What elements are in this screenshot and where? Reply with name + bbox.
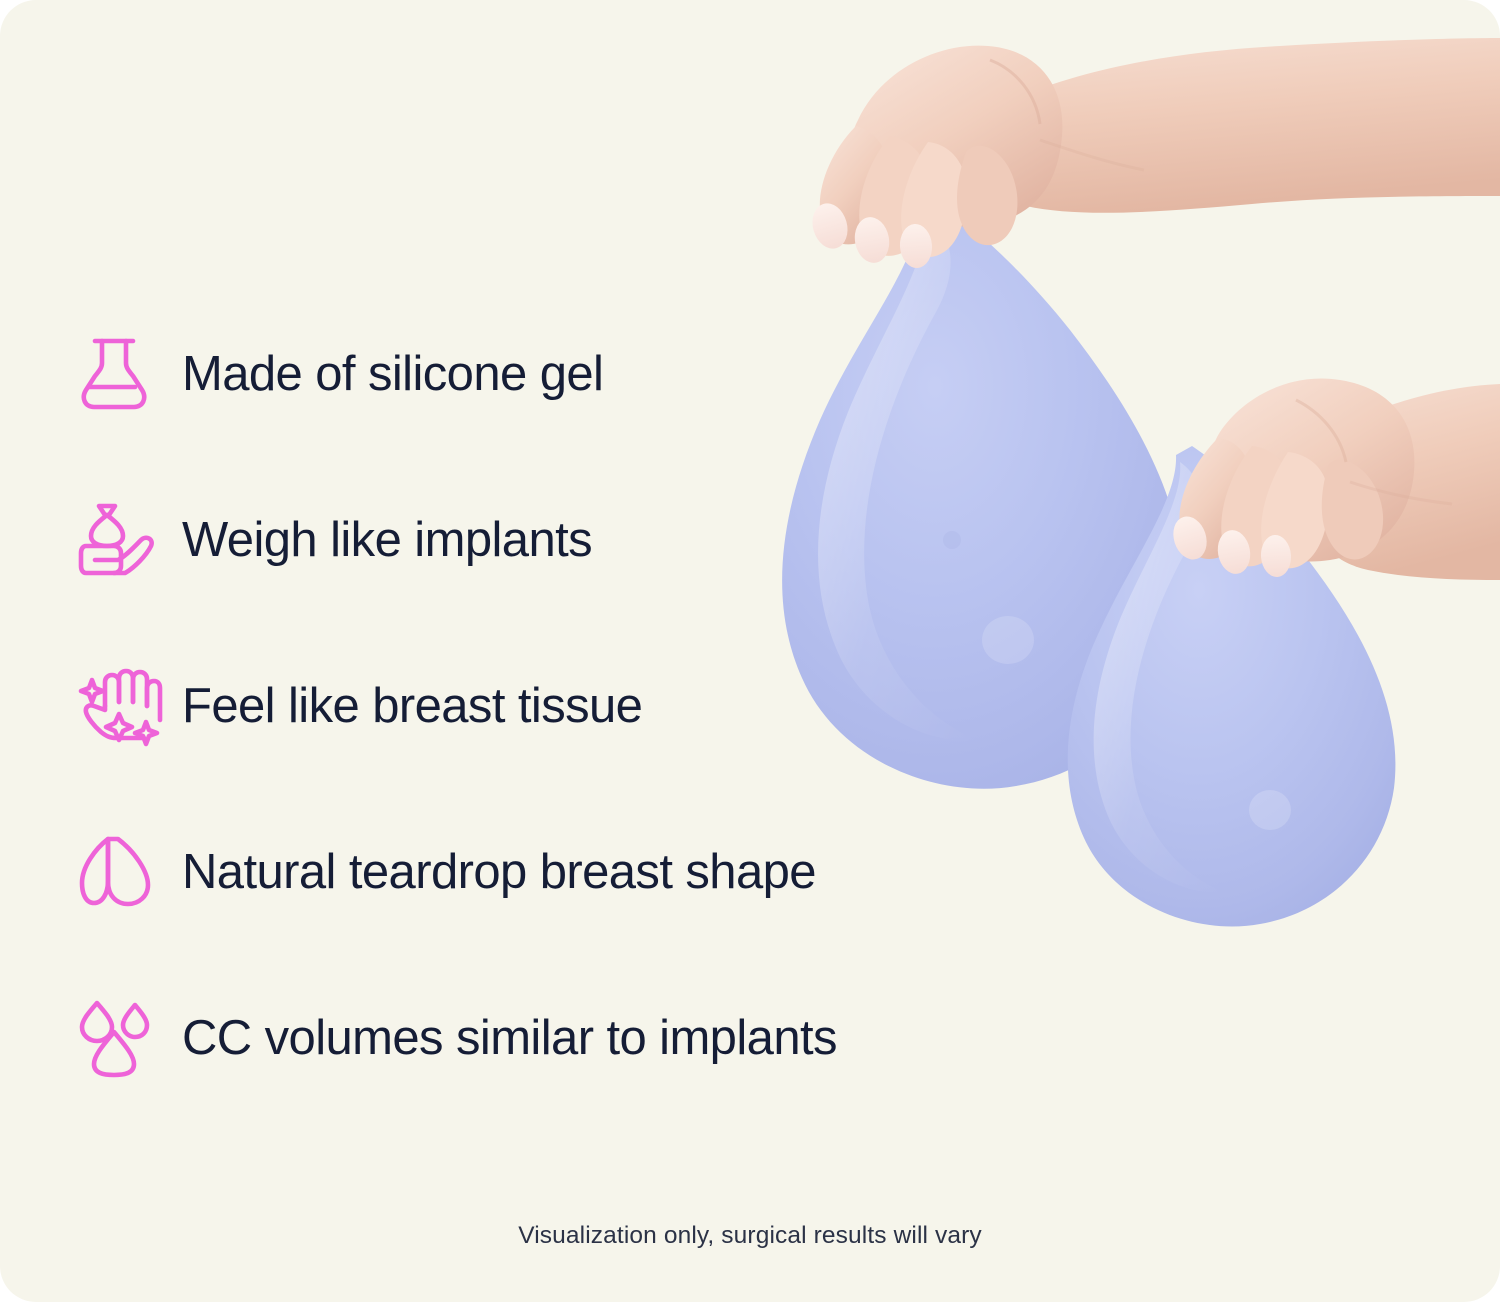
feature-label: Weigh like implants — [182, 514, 592, 567]
feature-label: CC volumes similar to implants — [182, 1012, 837, 1065]
sizer-small — [1068, 446, 1396, 926]
droplets-icon — [78, 988, 182, 1088]
feature-item-weigh-like-implants: Weigh like implants — [78, 484, 978, 596]
feature-label: Feel like breast tissue — [182, 680, 642, 733]
feature-label: Made of silicone gel — [182, 348, 603, 401]
hand-arm-upper — [807, 38, 1500, 269]
feature-item-feel-like-breast-tissue: Feel like breast tissue — [78, 650, 978, 762]
feature-item-cc-volumes-similar-to-implants: CC volumes similar to implants — [78, 982, 978, 1094]
hand-arm-lower — [1168, 378, 1500, 580]
feature-label: Natural teardrop breast shape — [182, 846, 816, 899]
teardrop-pair-icon — [78, 822, 182, 922]
flask-icon — [78, 324, 182, 424]
product-feature-card: Made of silicone gel Weigh like implants — [0, 0, 1500, 1302]
feature-item-natural-teardrop-breast-shape: Natural teardrop breast shape — [78, 816, 978, 928]
feature-item-made-of-silicone-gel: Made of silicone gel — [78, 318, 978, 430]
feature-list: Made of silicone gel Weigh like implants — [78, 318, 978, 1094]
disclaimer-caption: Visualization only, surgical results wil… — [0, 1222, 1500, 1250]
hand-sparkle-icon — [78, 656, 182, 756]
hand-weight-icon — [78, 490, 182, 590]
